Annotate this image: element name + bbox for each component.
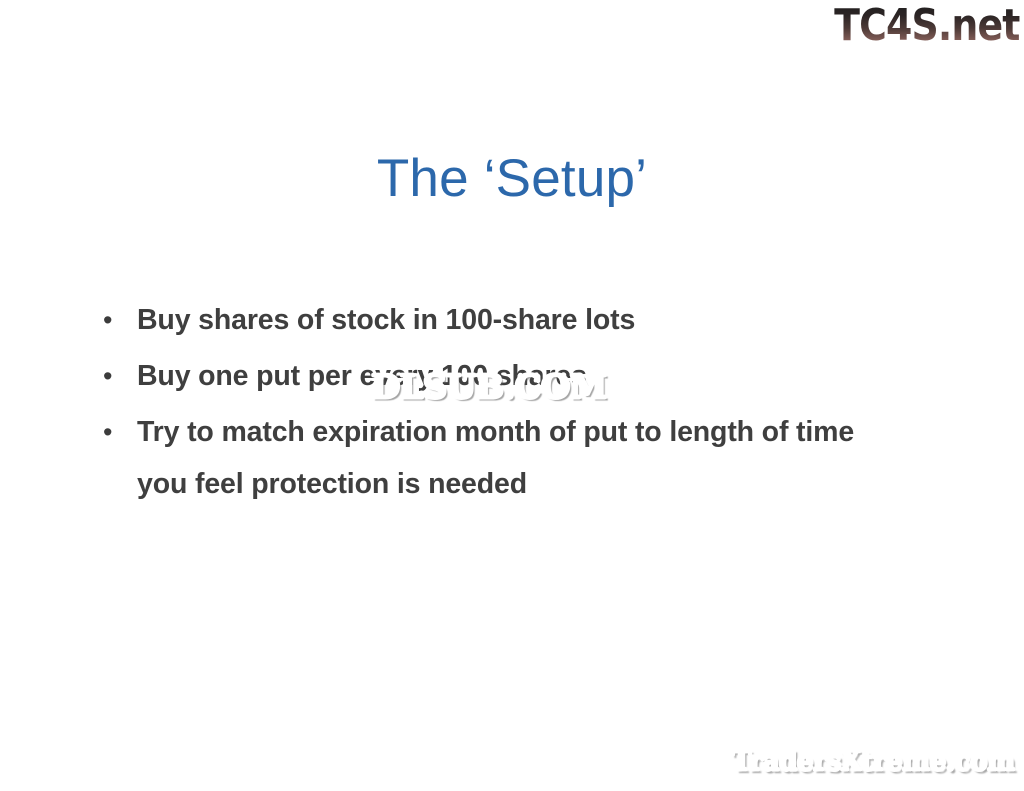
presentation-slide: TC4S.net The ‘Setup’ • Buy shares of sto… [0, 0, 1024, 791]
bullet-dot-icon: • [100, 350, 137, 402]
tradersxtreme-logo: TradersXtreme.com [732, 746, 1015, 778]
tc4s-net-logo: TC4S.net [835, 2, 1020, 50]
bullet-dot-icon: • [100, 406, 137, 458]
list-item-text: Buy shares of stock in 100-share lots [137, 294, 920, 346]
dlsub-watermark: DLSUB.COM [371, 369, 606, 405]
page-title: The ‘Setup’ [0, 148, 1024, 210]
tradersxtreme-logo-text: TradersXtreme.com [732, 746, 1015, 777]
list-item: • Try to match expiration month of put t… [100, 406, 920, 510]
dlsub-watermark-text: DLSUB.COM [371, 367, 606, 406]
list-item-text: Try to match expiration month of put to … [137, 406, 882, 510]
bullet-dot-icon: • [100, 294, 137, 346]
list-item: • Buy shares of stock in 100-share lots [100, 294, 920, 346]
